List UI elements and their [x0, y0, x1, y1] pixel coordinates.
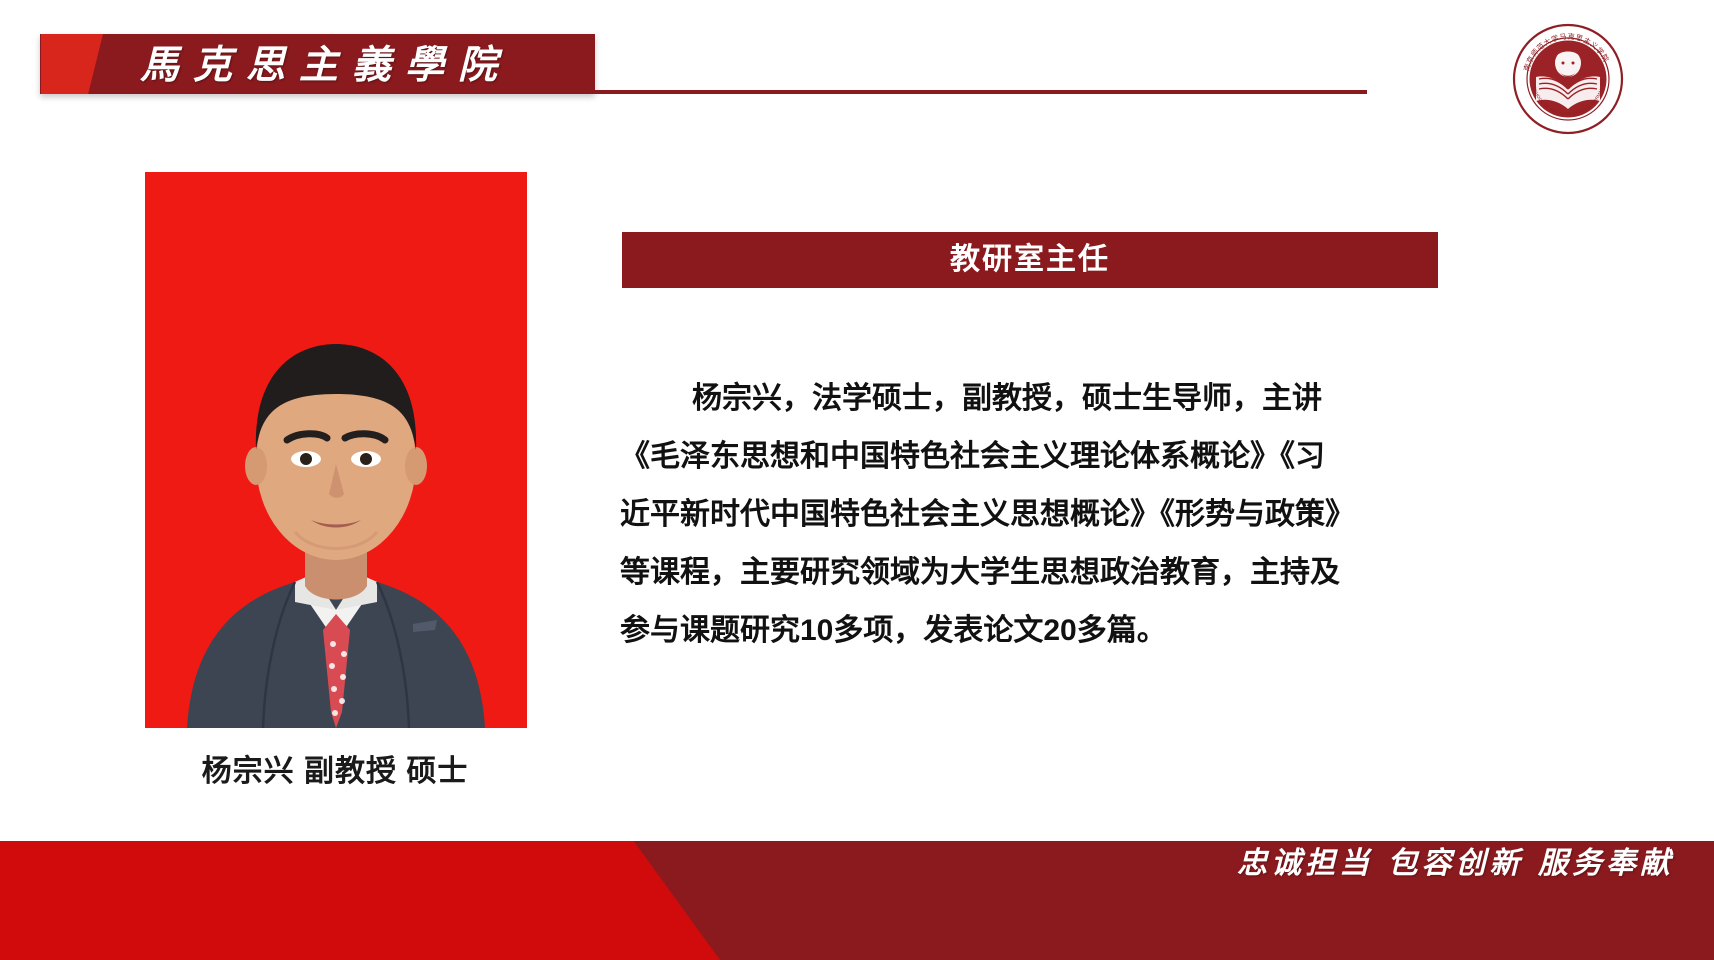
profile-photo: [145, 172, 527, 728]
header-divider-rule: [595, 90, 1367, 94]
slide-root: 馬克思主義學院: [0, 0, 1714, 960]
bio-line: 等课程，主要研究领域为大学生思想政治教育，主持及: [620, 544, 1450, 602]
footer-bright-band: [0, 841, 720, 960]
bio-paragraph: 杨宗兴，法学硕士，副教授，硕士生导师，主讲 《毛泽东思想和中国特色社会主义理论体…: [620, 370, 1450, 660]
marxism-school-seal-icon: 南京师范大学马克思主义学院 SCHOOL OF MARXISM NANJING …: [1512, 23, 1624, 135]
bio-line: 参与课题研究10多项，发表论文20多篇。: [620, 602, 1450, 660]
school-seal-logo: 南京师范大学马克思主义学院 SCHOOL OF MARXISM NANJING …: [1512, 23, 1624, 135]
profile-photo-caption: 杨宗兴 副教授 硕士: [120, 746, 550, 790]
bio-line: 杨宗兴，法学硕士，副教授，硕士生导师，主讲: [620, 370, 1450, 428]
bio-line: 《毛泽东思想和中国特色社会主义理论体系概论》《习: [620, 428, 1450, 486]
portrait-photo-image: [145, 172, 527, 728]
bio-line: 近平新时代中国特色社会主义思想概论》《形势与政策》: [620, 486, 1450, 544]
header-banner-title: 馬克思主義學院: [140, 36, 560, 94]
slide-header: 馬克思主義學院: [0, 0, 1714, 150]
profile-photo-container: [145, 172, 527, 728]
section-title-text: 教研室主任: [622, 232, 1438, 288]
footer-slogan-text: 忠诚担当 包容创新 服务奉献: [1237, 838, 1674, 882]
